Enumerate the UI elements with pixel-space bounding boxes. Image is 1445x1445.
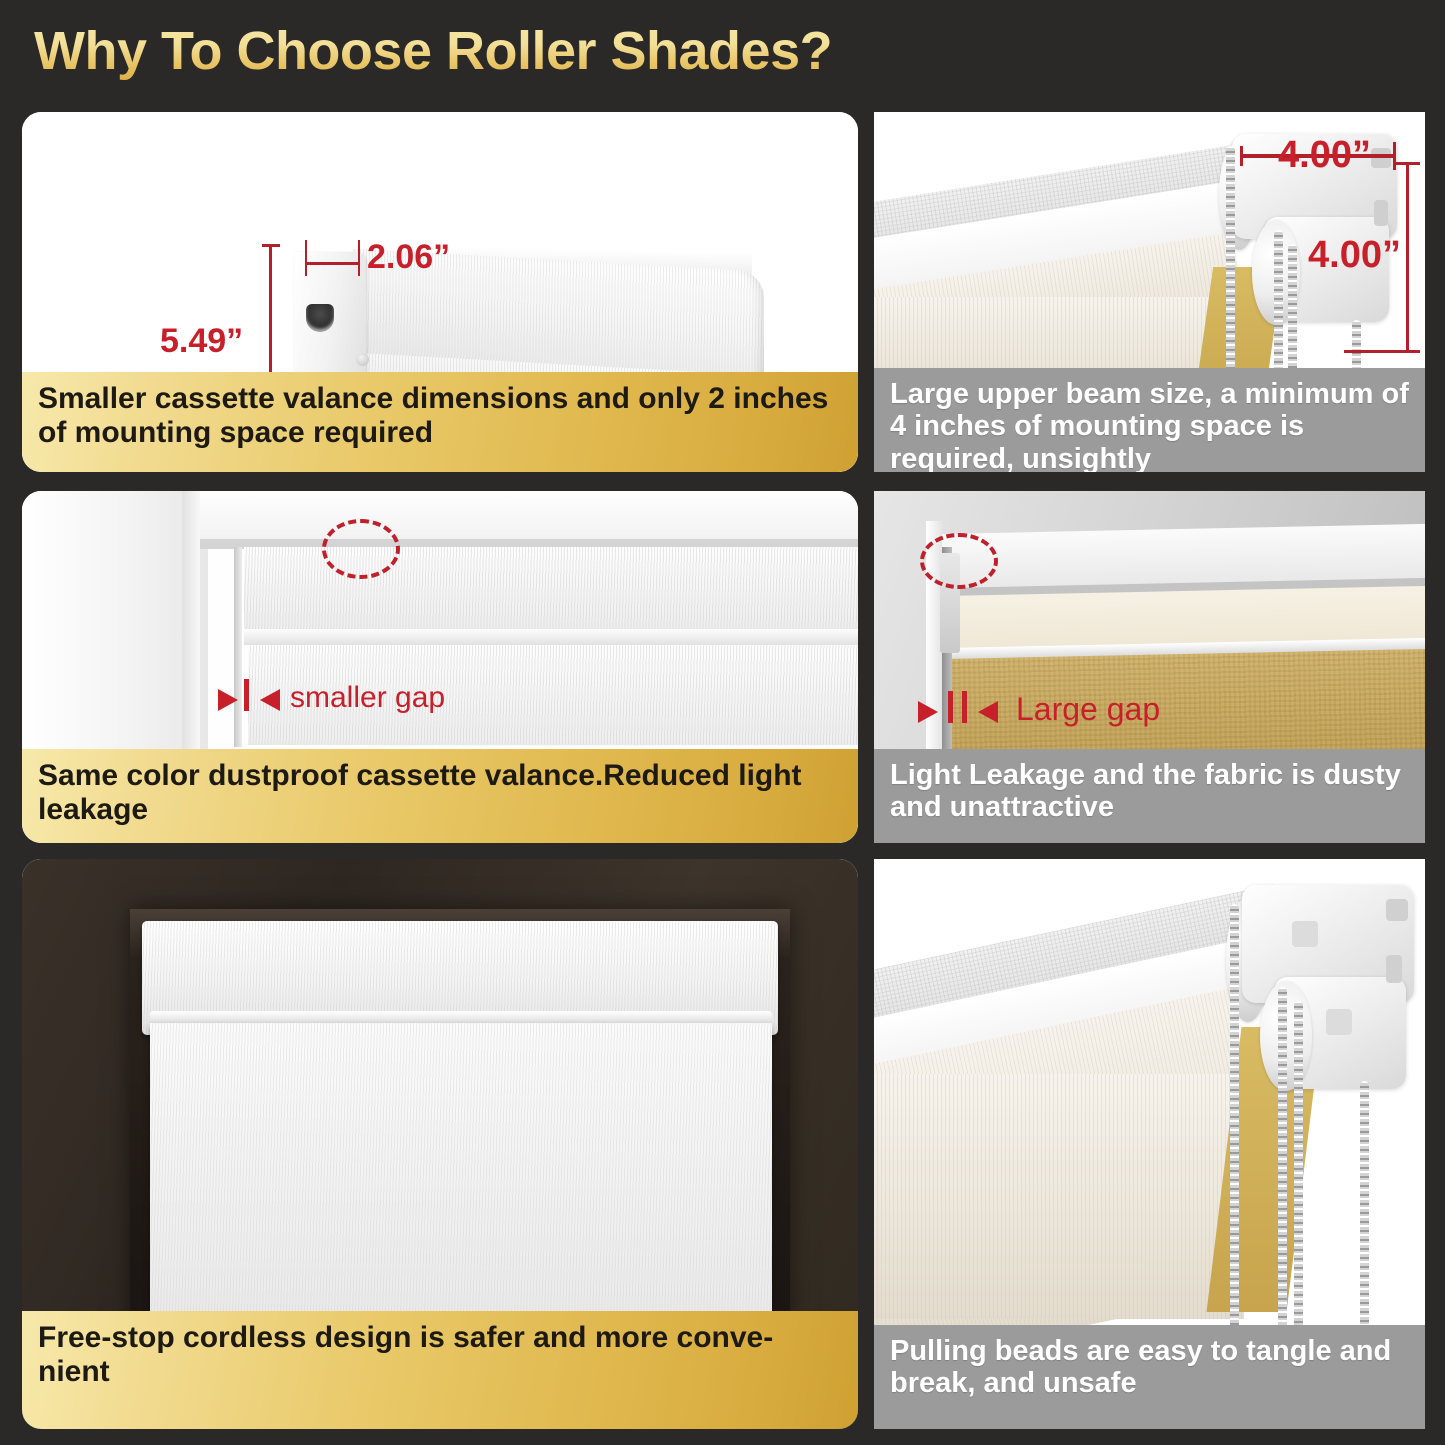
comparison-grid: 2.06” 5.49” Smaller cassette valance dim… <box>0 0 1445 1445</box>
caption-free-stop-cordless: Free-stop cordless design is safer and m… <box>22 1311 858 1429</box>
bead-chain <box>1230 904 1239 1329</box>
caption-pulling-beads: Pulling beads are easy to tangle and bre… <box>874 1325 1425 1429</box>
panel-cassette-valance-dimensions: 2.06” 5.49” Smaller cassette valance dim… <box>22 112 858 472</box>
bead-chain <box>1360 1081 1369 1329</box>
panel-pulling-beads: Pulling beads are easy to tangle and bre… <box>874 859 1425 1429</box>
caption-large-upper-beam: Large upper beam size, a minimum of 4 in… <box>874 368 1425 472</box>
gap-label-smaller: smaller gap <box>290 681 445 715</box>
panel-light-leakage: Large gap Light Leakage and the fabric i… <box>874 491 1425 843</box>
gap-label-large: Large gap <box>1016 691 1160 728</box>
bead-chain <box>1294 1001 1303 1329</box>
caption-cassette-valance-dimensions: Smaller cassette valance dimensions and … <box>22 372 858 472</box>
dimension-label-height: 5.49” <box>160 322 243 361</box>
panel-free-stop-cordless: Free-stop cordless design is safer and m… <box>22 859 858 1429</box>
caption-dustproof-cassette-valance: Same color dustproof cassette valance.Re… <box>22 749 858 843</box>
panel-large-upper-beam: 4.00” 4.00” Large upper beam size, a min… <box>874 112 1425 472</box>
dimension-label-width: 2.06” <box>367 238 450 277</box>
bead-chain <box>1278 987 1287 1329</box>
shade-fabric-panel <box>150 1023 772 1333</box>
panel-dustproof-cassette-valance: smaller gap Same color dustproof cassett… <box>22 491 858 843</box>
dimension-label-beam-height: 4.00” <box>1308 234 1401 277</box>
highlight-ellipse-gap <box>322 519 400 579</box>
dimension-label-beam-width: 4.00” <box>1278 134 1371 177</box>
highlight-ellipse-large-gap <box>920 533 998 589</box>
caption-light-leakage: Light Leakage and the fabric is dusty an… <box>874 749 1425 843</box>
